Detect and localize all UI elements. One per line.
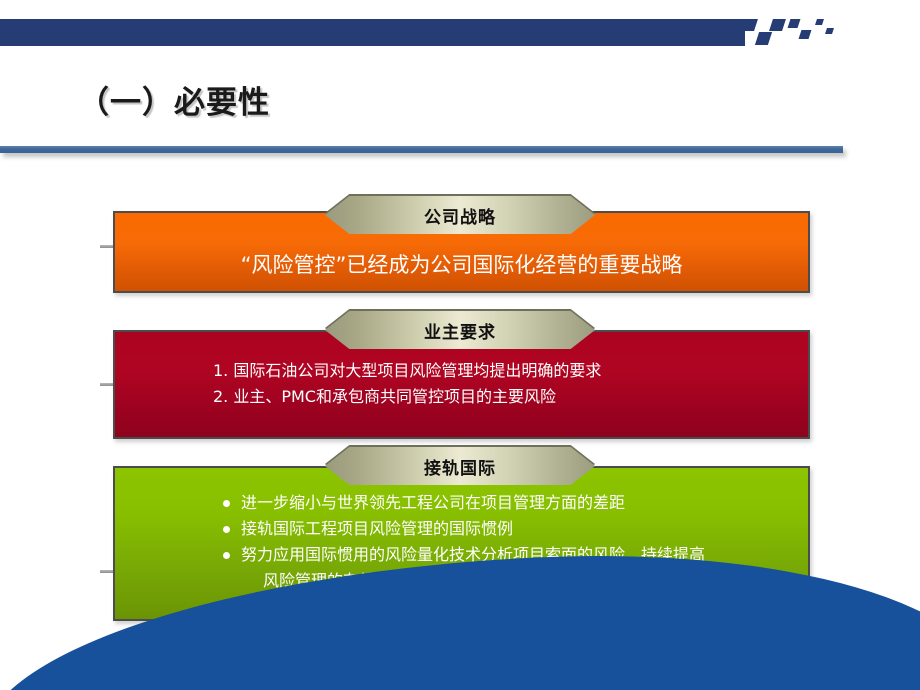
header-band — [0, 19, 745, 46]
list-item: 2. 业主、PMC和承包商共同管控项目的主要风险 — [213, 384, 601, 410]
bullet-dot-icon — [223, 526, 230, 533]
list-item-label: 进一步缩小与世界领先工程公司在项目管理方面的差距 — [241, 493, 625, 512]
tab-owner-requirement[interactable]: 业主要求 — [325, 311, 595, 349]
tab-international-alignment[interactable]: 接轨国际 — [325, 447, 595, 485]
list-item: 接轨国际工程项目风险管理的国际惯例 — [223, 516, 705, 542]
list-item-label: 接轨国际工程项目风险管理的国际惯例 — [241, 519, 513, 538]
checkered-flag-deco — [700, 14, 850, 54]
page-title: （一）必要性 — [78, 77, 270, 122]
tab-company-strategy[interactable]: 公司战略 — [325, 196, 595, 234]
tab-label: 接轨国际 — [424, 454, 496, 479]
bullet-dot-icon — [223, 552, 230, 559]
list-item: 1. 国际石油公司对大型项目风险管理均提出明确的要求 — [213, 358, 601, 384]
tab-label: 公司战略 — [424, 203, 496, 228]
slide-canvas: （一）必要性 “风险管控”已经成为公司国际化经营的重要战略 1. 国际石油公司对… — [0, 0, 920, 690]
bullet-dot-icon — [223, 500, 230, 507]
list-item: 进一步缩小与世界领先工程公司在项目管理方面的差距 — [223, 490, 705, 516]
panel-item-list: 1. 国际石油公司对大型项目风险管理均提出明确的要求 2. 业主、PMC和承包商… — [213, 358, 601, 410]
title-divider — [0, 146, 843, 153]
tab-label: 业主要求 — [424, 318, 496, 343]
panel-headline: “风险管控”已经成为公司国际化经营的重要战略 — [115, 249, 808, 279]
